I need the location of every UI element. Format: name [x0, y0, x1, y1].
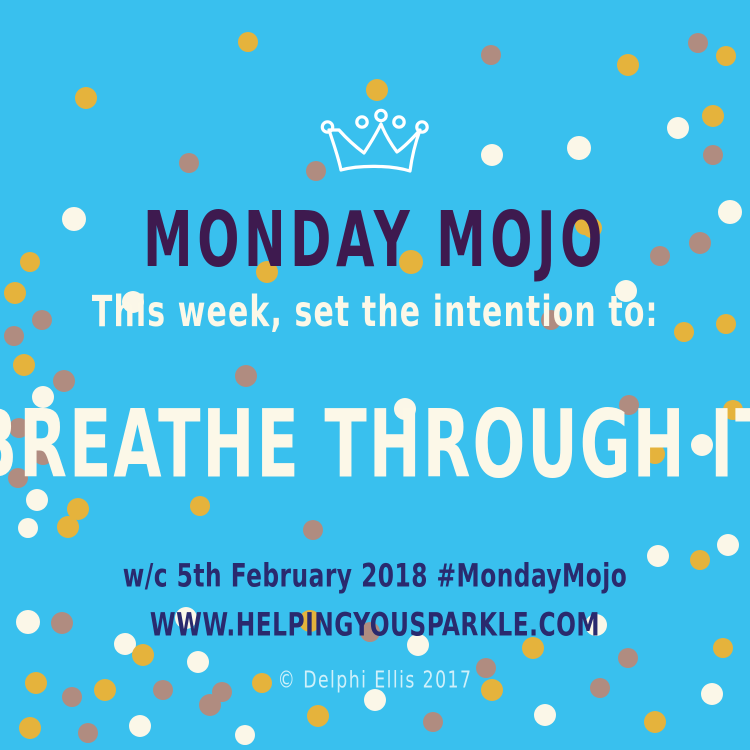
monday-mojo-poster: MONDAY MOJO This week, set the intention… [0, 0, 750, 750]
page-title: MONDAY MOJO [143, 202, 607, 279]
footer-website[interactable]: WWW.HELPINGYOUSPARKLE.COM [15, 609, 735, 641]
poster-content: MONDAY MOJO This week, set the intention… [0, 0, 750, 750]
footer: w/c 5th February 2018 #MondayMojo WWW.HE… [0, 560, 750, 688]
subtitle: This week, set the intention to: [92, 292, 659, 335]
copyright-notice: © Delphi Ellis 2017 [15, 668, 735, 691]
headline-intention: BREATHE THROUGH IT [0, 397, 750, 491]
crown-icon [315, 108, 435, 180]
footer-date-hashtag: w/c 5th February 2018 #MondayMojo [15, 560, 735, 592]
